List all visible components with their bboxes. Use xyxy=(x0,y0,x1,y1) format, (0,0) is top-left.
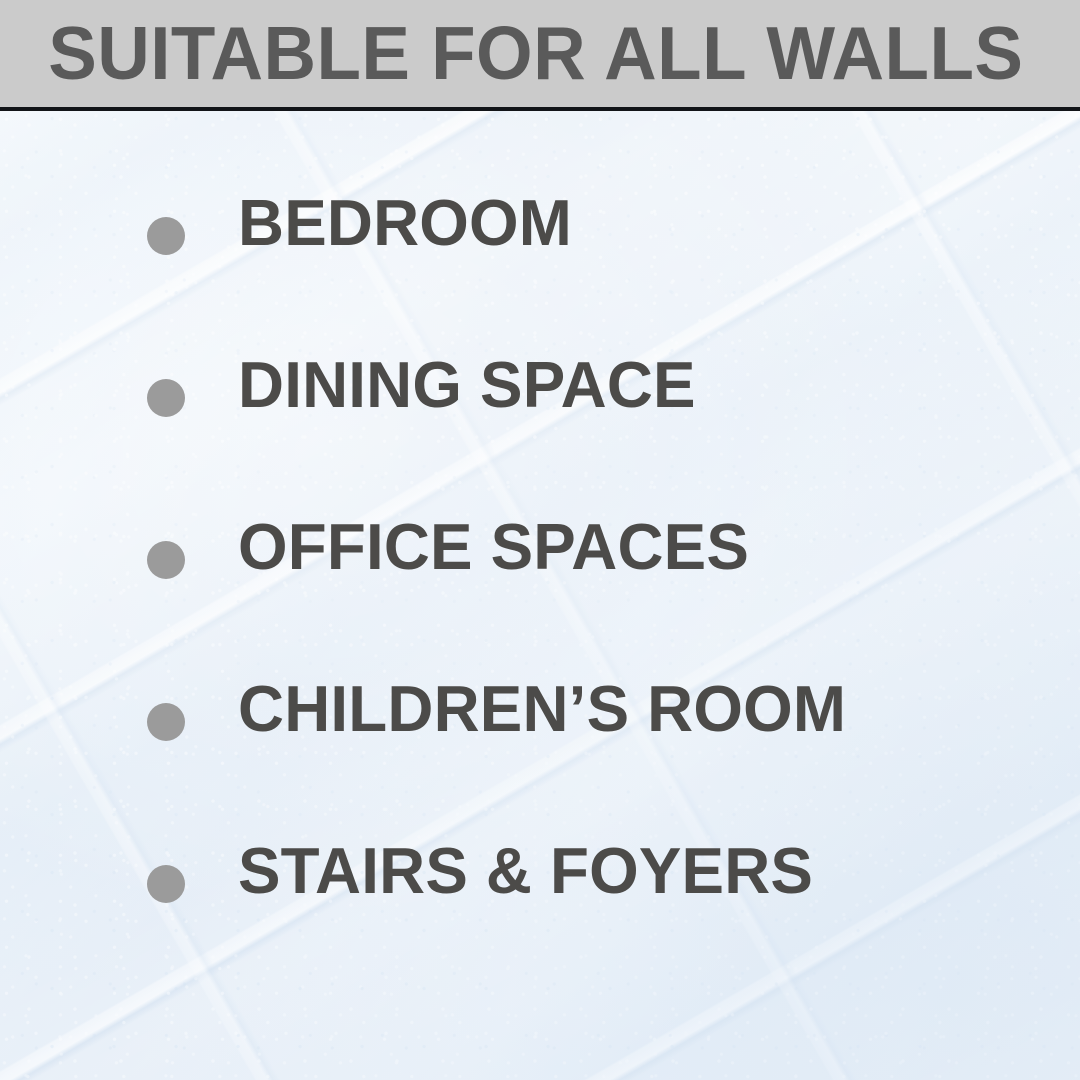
poster-canvas: SUITABLE FOR ALL WALLS BEDROOM DINING SP… xyxy=(0,0,1080,1080)
list-item-label: OFFICE SPACES xyxy=(238,514,749,579)
page-title: SUITABLE FOR ALL WALLS xyxy=(49,16,1032,91)
bullet-dot-icon xyxy=(147,379,185,417)
list-item-label: STAIRS & FOYERS xyxy=(238,838,813,903)
list-item-label: DINING SPACE xyxy=(238,352,696,417)
header-band: SUITABLE FOR ALL WALLS xyxy=(0,0,1080,107)
suitable-rooms-list: BEDROOM DINING SPACE OFFICE SPACES CHILD… xyxy=(0,111,1080,1080)
list-item-label: CHILDREN’S ROOM xyxy=(238,676,846,741)
bullet-dot-icon xyxy=(147,541,185,579)
list-item-label: BEDROOM xyxy=(238,190,572,255)
header-divider xyxy=(0,107,1080,111)
bullet-dot-icon xyxy=(147,703,185,741)
bullet-dot-icon xyxy=(147,217,185,255)
bullet-dot-icon xyxy=(147,865,185,903)
